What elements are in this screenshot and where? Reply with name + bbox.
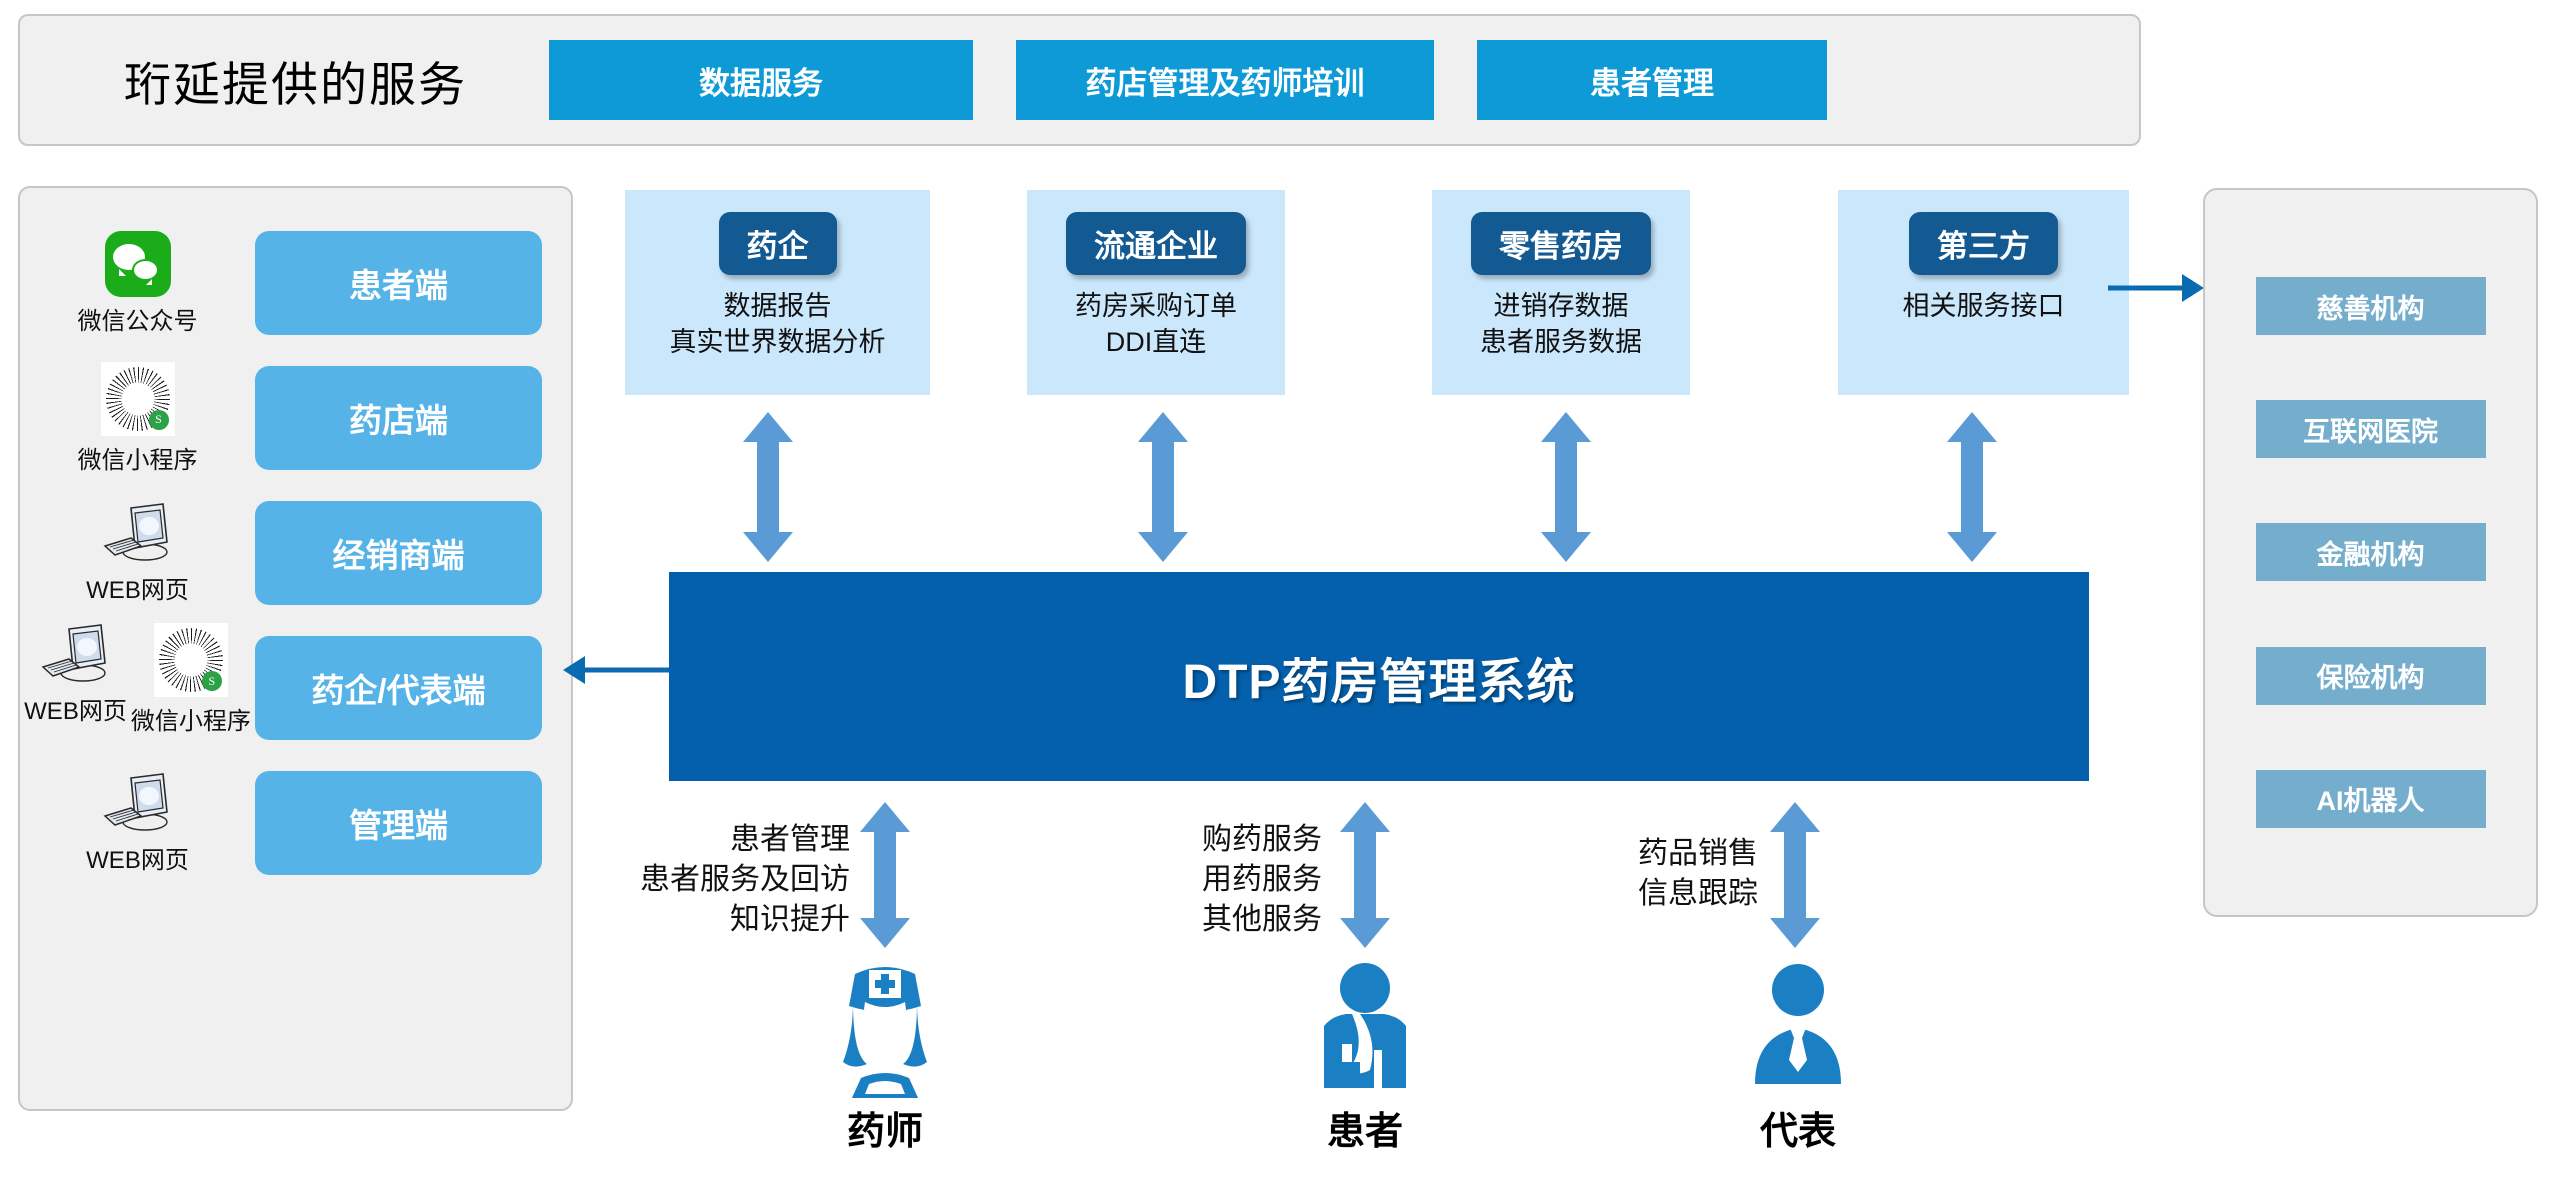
endpoint-row-pharma-rep: WEB网页 S 微信小程序 药企/代表端 [20,623,571,753]
icon-unit: WEB网页 [86,772,189,875]
endpoint-icon-cell: WEB网页 [20,758,255,888]
wechat-official-icon [105,231,171,297]
page-title: 珩延提供的服务 [124,46,467,115]
actor-service-line: 患者管理 [640,820,850,860]
endpoint-icon-cell: 微信公众号 [20,218,255,348]
patient-icon [1310,958,1420,1103]
source-line: 数据报告 [670,289,886,325]
source-lines: 进销存数据 患者服务数据 [1480,289,1642,360]
arrow-distribution-to-system [1133,412,1193,562]
actor-group-patient: 购药服务 用药服务 其他服务 患者 [1150,800,1470,1178]
actor-group-representative: 药品销售 信息跟踪 代表 [1550,800,1870,1178]
wechat-miniprogram-icon: S [101,362,175,436]
rep-icon [1745,958,1851,1093]
source-line: 药房采购订单 [1075,289,1237,325]
arrow-pharma-to-system [738,412,798,562]
icon-caption: WEB网页 [86,840,189,875]
actor-service-lines: 购药服务 用药服务 其他服务 [1202,820,1322,941]
source-pill-label: 药企 [719,212,837,275]
icon-caption: WEB网页 [86,570,189,605]
actor-service-lines: 药品销售 信息跟踪 [1638,834,1758,914]
services-header-band: 珩延提供的服务 数据服务 药店管理及药师培训 患者管理 [18,14,2141,146]
icon-caption: 微信小程序 [131,701,251,736]
actor-service-line: 知识提升 [640,900,850,940]
arrow-system-to-pharmacist [855,802,915,948]
partner-button-insurance[interactable]: 保险机构 [2256,647,2486,705]
partner-button-financial[interactable]: 金融机构 [2256,523,2486,581]
actor-name-patient: 患者 [1327,1100,1403,1155]
endpoint-button-pharmacy[interactable]: 药店端 [255,366,542,470]
service-chip-pharmacy-mgmt[interactable]: 药店管理及药师培训 [1016,40,1434,120]
arrow-system-to-patient [1335,802,1395,948]
arrow-retail-to-system [1536,412,1596,562]
endpoint-button-distributor[interactable]: 经销商端 [255,501,542,605]
nurse-icon [825,958,945,1103]
endpoint-row-patient: 微信公众号 患者端 [20,218,571,348]
endpoint-row-pharmacy: S 微信小程序 药店端 [20,353,571,483]
actor-name-pharmacist: 药师 [847,1100,923,1155]
source-pill-label: 流通企业 [1066,212,1246,275]
source-pill-label: 零售药房 [1471,212,1651,275]
arrow-thirdparty-to-partners [2108,273,2204,303]
client-endpoints-panel: 微信公众号 患者端 S 微信小程序 药店端 [18,186,573,1111]
actor-service-line: 药品销售 [1638,834,1758,874]
actor-service-line: 其他服务 [1202,900,1322,940]
actor-service-line: 购药服务 [1202,820,1322,860]
source-box-distribution[interactable]: 流通企业 药房采购订单 DDI直连 [1027,190,1285,395]
source-box-third-party[interactable]: 第三方 相关服务接口 [1838,190,2129,395]
icon-caption: WEB网页 [24,691,127,726]
web-page-icon [101,502,173,566]
endpoint-button-patient[interactable]: 患者端 [255,231,542,335]
source-lines: 药房采购订单 DDI直连 [1075,289,1237,360]
service-chip-list: 数据服务 药店管理及药师培训 患者管理 [549,40,1827,120]
web-page-icon [39,623,111,687]
icon-unit: WEB网页 [24,623,127,726]
actor-service-line: 信息跟踪 [1638,874,1758,914]
partner-institutions-panel: 慈善机构 互联网医院 金融机构 保险机构 AI机器人 [2203,188,2538,917]
endpoint-button-pharma-rep[interactable]: 药企/代表端 [255,636,542,740]
actor-name-representative: 代表 [1760,1100,1836,1155]
dtp-system-bar[interactable]: DTP药房管理系统 [669,572,2089,781]
endpoint-row-admin: WEB网页 管理端 [20,758,571,888]
dtp-system-title: DTP药房管理系统 [1182,642,1575,712]
source-line: 真实世界数据分析 [670,325,886,361]
source-box-retail-pharmacy[interactable]: 零售药房 进销存数据 患者服务数据 [1432,190,1690,395]
icon-caption: 微信小程序 [78,440,198,475]
actor-service-lines: 患者管理 患者服务及回访 知识提升 [640,820,850,941]
actor-service-line: 用药服务 [1202,860,1322,900]
endpoint-icon-cell: S 微信小程序 [20,353,255,483]
icon-unit: 微信公众号 [78,231,198,336]
service-chip-data[interactable]: 数据服务 [549,40,973,120]
endpoint-icon-cell: WEB网页 S 微信小程序 [20,623,255,753]
source-line: 患者服务数据 [1480,325,1642,361]
source-box-pharma[interactable]: 药企 数据报告 真实世界数据分析 [625,190,930,395]
source-line: 进销存数据 [1480,289,1642,325]
web-page-icon [101,772,173,836]
arrow-system-to-endpoints [563,655,678,685]
icon-unit: S 微信小程序 [78,362,198,475]
icon-unit: WEB网页 [86,502,189,605]
actor-group-pharmacist: 患者管理 患者服务及回访 知识提升 药师 [640,800,960,1178]
endpoint-icon-cell: WEB网页 [20,488,255,618]
endpoint-button-admin[interactable]: 管理端 [255,771,542,875]
source-lines: 数据报告 真实世界数据分析 [670,289,886,360]
endpoint-row-distributor: WEB网页 经销商端 [20,488,571,618]
source-pill-label: 第三方 [1909,212,2058,275]
partner-button-ai-robot[interactable]: AI机器人 [2256,770,2486,828]
arrow-system-to-representative [1765,802,1825,948]
icon-caption: 微信公众号 [78,301,198,336]
actor-service-line: 患者服务及回访 [640,860,850,900]
partner-button-charity[interactable]: 慈善机构 [2256,277,2486,335]
icon-unit: S 微信小程序 [131,623,251,736]
source-line: DDI直连 [1075,325,1237,361]
partner-button-internet-hospital[interactable]: 互联网医院 [2256,400,2486,458]
wechat-miniprogram-icon: S [154,623,228,697]
service-chip-patient-mgmt[interactable]: 患者管理 [1477,40,1827,120]
arrow-thirdparty-to-system [1942,412,2002,562]
source-line: 相关服务接口 [1903,289,2065,325]
source-lines: 相关服务接口 [1903,289,2065,325]
